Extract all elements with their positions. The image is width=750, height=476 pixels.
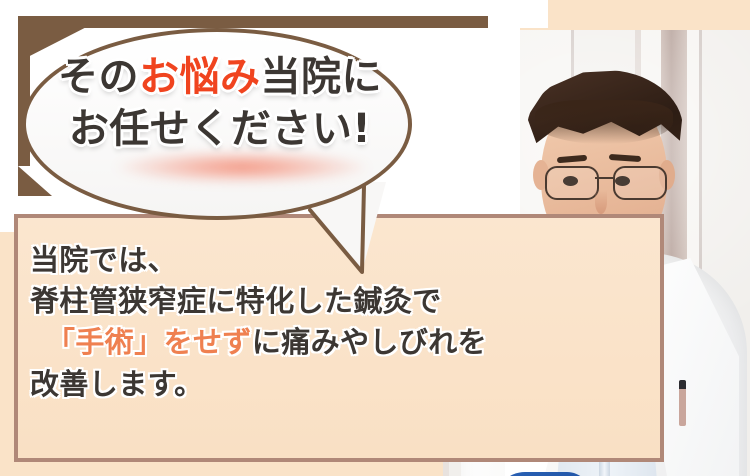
- headline-line1-highlight: お悩み: [139, 54, 261, 100]
- hair-fringe: [535, 100, 673, 144]
- pocket-pen: [679, 380, 686, 426]
- panel-body-text: 当院では、 脊柱管狭窄症に特化した鍼灸で 「手術」をせずに痛みやしびれを 改善し…: [30, 240, 550, 405]
- body-line-1: 当院では、: [30, 240, 550, 281]
- nose: [595, 190, 607, 214]
- clinic-banner: そのお悩み当院に お任せください! 当院では、 脊柱管狭窄症に特化した鍼灸で 「…: [0, 0, 750, 476]
- lens-left: [545, 166, 599, 200]
- headline-glow: [92, 150, 392, 184]
- lens-right: [613, 166, 667, 200]
- headline-line1-post: 当院に: [261, 54, 383, 100]
- glasses-bridge: [595, 177, 615, 179]
- headline-line1-pre: その: [58, 54, 139, 100]
- headline-line-2: お任せください!: [30, 108, 410, 150]
- body-line-3: 「手術」をせずに痛みやしびれを: [30, 322, 550, 363]
- headline-text: そのお悩み当院に お任せください!: [30, 56, 410, 151]
- body-line3-highlight: 「手術」をせず: [46, 325, 252, 359]
- body-line3-post: に痛みやしびれを: [252, 325, 487, 359]
- headline-line-1: そのお悩み当院に: [30, 56, 410, 98]
- body-line-4: 改善します。: [30, 364, 550, 405]
- body-line-2: 脊柱管狭窄症に特化した鍼灸で: [30, 281, 550, 322]
